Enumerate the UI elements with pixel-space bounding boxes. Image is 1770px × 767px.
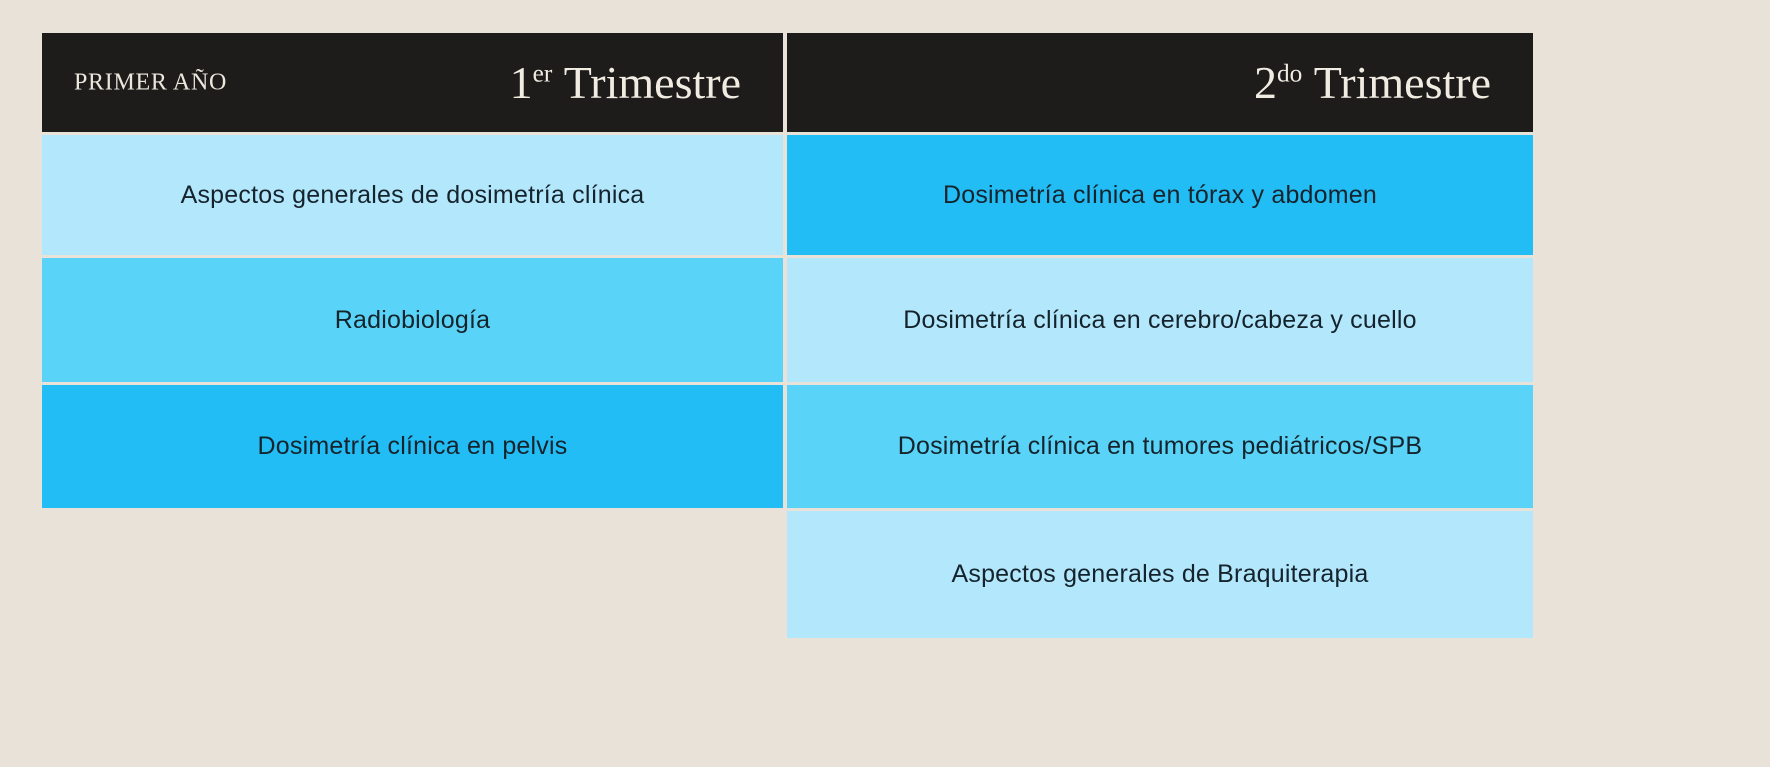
header-cell-second-trimester: 2do Trimestre [787,33,1533,132]
second-trimester-ordinal: do [1277,59,1302,87]
table-header-row: PRIMER AÑO 1er Trimestre 2do Trimestre [42,33,1533,132]
second-trimester-title: 2do Trimestre [1254,60,1491,106]
table-body: Aspectos generales de dosimetría clínica… [42,132,1533,638]
first-trimester-ordinal: er [533,59,553,87]
column-first-trimester: Aspectos generales de dosimetría clínica… [42,132,783,638]
first-trimester-number: 1 [510,57,533,108]
schedule-table: PRIMER AÑO 1er Trimestre 2do Trimestre A… [42,33,1533,638]
course-cell[interactable]: Dosimetría clínica en cerebro/cabeza y c… [787,258,1533,382]
course-cell[interactable]: Dosimetría clínica en pelvis [42,385,783,508]
second-trimester-word: Trimestre [1314,57,1491,108]
column-second-trimester: Dosimetría clínica en tórax y abdomen Do… [787,132,1533,638]
course-cell[interactable]: Dosimetría clínica en tumores pediátrico… [787,385,1533,508]
year-label: PRIMER AÑO [74,69,227,96]
header-cell-first-trimester: PRIMER AÑO 1er Trimestre [42,33,783,132]
first-trimester-title: 1er Trimestre [510,60,741,106]
first-trimester-word: Trimestre [564,57,741,108]
course-cell[interactable]: Aspectos generales de Braquiterapia [787,511,1533,638]
course-cell[interactable]: Dosimetría clínica en tórax y abdomen [787,135,1533,255]
course-cell[interactable]: Aspectos generales de dosimetría clínica [42,135,783,255]
course-cell[interactable]: Radiobiología [42,258,783,382]
second-trimester-number: 2 [1254,57,1277,108]
